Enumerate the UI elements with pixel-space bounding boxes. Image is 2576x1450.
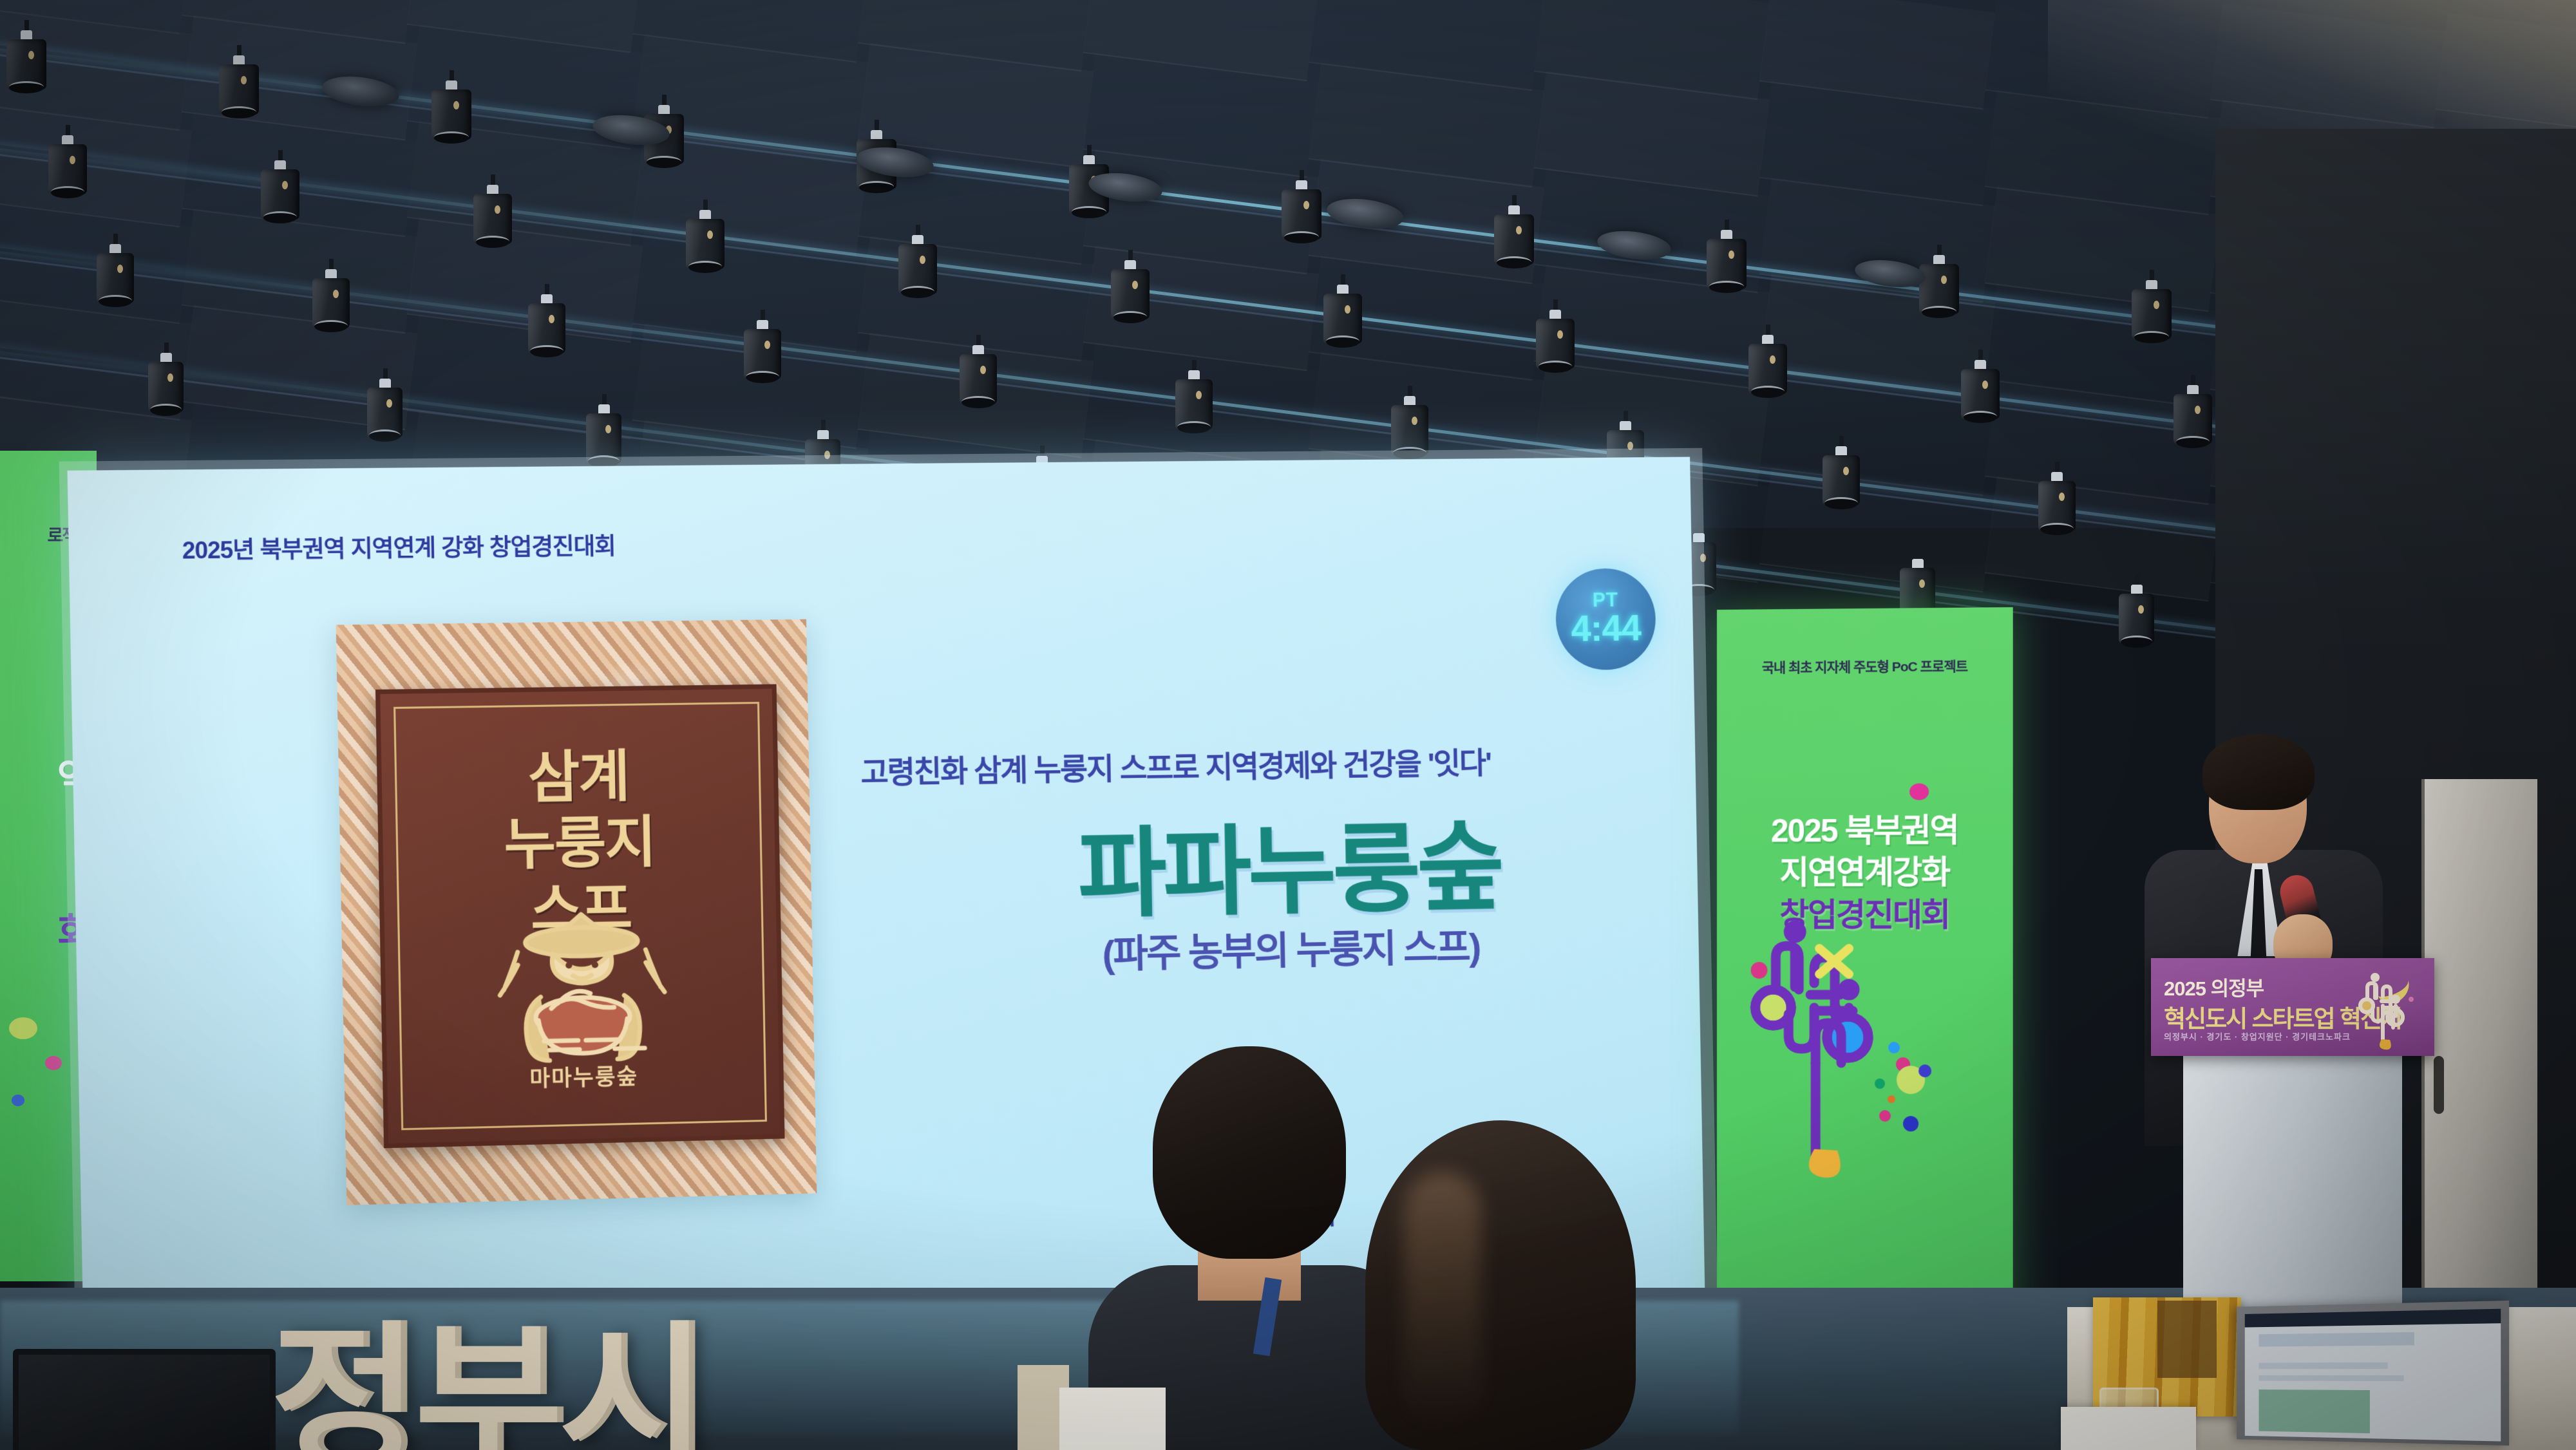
spotlight-body: [219, 64, 259, 115]
slide-subtitle: 고령친화 삼계 누룽지 스프로 지역경제와 건강을 '잇다': [860, 735, 1709, 792]
spotlight-glint: [2138, 605, 2144, 614]
front-paper-sheet[interactable]: [1059, 1388, 1166, 1450]
spotlight-glint: [70, 156, 75, 164]
spotlight-body: [6, 39, 46, 89]
slide-header: 2025년 북부권역 지역연계 강화 창업경진대회: [182, 527, 616, 565]
laptop-screen[interactable]: [2245, 1309, 2501, 1442]
spotlight-body: [1282, 189, 1321, 240]
spotlight-lens: [688, 261, 723, 273]
spotlight-lens: [1709, 281, 1745, 293]
ceiling-spotlight: [48, 125, 87, 220]
spotlight-body: [97, 253, 134, 303]
spotlight-lens: [476, 236, 510, 248]
spotlight-body: [1323, 294, 1362, 344]
spotlight-body: [473, 194, 512, 244]
confetti-dot: [9, 1017, 37, 1039]
spotlight-lens: [1824, 497, 1857, 509]
spotlight-body: [367, 388, 402, 438]
banner-line-2: 지연연계강화: [1717, 846, 2013, 893]
laptop-doc-block: [2259, 1333, 2414, 1347]
spotlight-glint: [1919, 579, 1925, 588]
spotlight-lens: [263, 211, 298, 223]
podium-sign-line-1: 2025 의정부: [2164, 972, 2264, 1001]
spotlight-glint: [333, 290, 339, 298]
audience-member-2-hair-highlight: [1404, 1172, 1481, 1429]
ceiling-spotlight: [686, 200, 724, 295]
spotlight-lens: [434, 131, 469, 144]
spotlight-lens: [314, 320, 347, 332]
spotlight-body: [1748, 344, 1787, 394]
spotlight-body: [528, 303, 565, 353]
conference-room-scene: 로젝트 역 회 2025년 북부권역 지역연계 강화 창업경진대회 삼계 누룽지…: [0, 0, 2576, 1450]
spotlight-glint: [241, 76, 247, 84]
spotlight-body: [686, 219, 724, 269]
banner-kicker: 국내 최초 지자체 주도형 PoC 프로젝트: [1717, 655, 2013, 677]
spotlight-glint: [1412, 417, 1417, 425]
confetti-dot: [1909, 784, 1929, 800]
product-photo: 삼계 누룽지 스프: [336, 619, 817, 1205]
ceiling-spotlight: [219, 45, 259, 142]
ceiling-spotlight: [2038, 462, 2076, 553]
podium-sign: 2025 의정부 혁신도시 스타트업 혁신지 의정부시 · 경기도 · 창업지원…: [2151, 958, 2434, 1056]
presenter-hair: [2202, 734, 2315, 810]
confetti-dot: [12, 1095, 24, 1106]
door-handle[interactable]: [2434, 1056, 2444, 1114]
ceiling-spotlight: [1823, 436, 1860, 527]
spotlight-glint: [1770, 355, 1776, 364]
spotlight-lens: [1177, 421, 1210, 433]
spotlight-body: [898, 244, 937, 294]
spotlight-body: [586, 413, 621, 464]
spotlight-body: [1536, 319, 1575, 369]
green-event-banner: 국내 최초 지자체 주도형 PoC 프로젝트 2025 북부권역 지연연계강화 …: [1717, 607, 2013, 1318]
ceiling-spotlight: [1919, 245, 1959, 341]
ceiling-spotlight: [1175, 360, 1213, 451]
spotlight-lens: [1284, 231, 1320, 243]
ceiling-spotlight: [1111, 250, 1150, 345]
ceiling-spotlight: [1961, 350, 2000, 445]
spotlight-glint: [1982, 381, 1988, 389]
spotlight-lens: [647, 156, 682, 168]
ceiling-spotlight: [367, 368, 402, 456]
spotlight-lens: [2176, 436, 2210, 448]
laptop[interactable]: [2237, 1301, 2509, 1445]
spotlight-body: [2038, 481, 2076, 531]
spotlight-body: [48, 144, 87, 194]
spotlight-lens: [1113, 311, 1148, 323]
spotlight-glint: [453, 101, 459, 109]
spotlight-lens: [901, 286, 935, 298]
confetti-dot: [45, 1056, 62, 1070]
ceiling-spotlight: [473, 174, 512, 270]
spotlight-lens: [1326, 335, 1360, 348]
spotlight-body: [312, 278, 350, 328]
ceiling-spotlight: [2132, 270, 2172, 366]
ceiling-spotlight: [2119, 574, 2154, 662]
audience-member-1-head: [1153, 1046, 1346, 1259]
spotlight-lens: [530, 345, 563, 357]
spotlight-lens: [2134, 331, 2170, 343]
spotlight-body: [261, 169, 299, 220]
ceiling-spotlight: [898, 225, 937, 320]
spotlight-glint: [2195, 406, 2201, 414]
spotlight-lens: [2121, 636, 2152, 648]
spotlight-glint: [980, 366, 986, 374]
spotlight-body: [960, 354, 997, 404]
spotlight-lens: [1497, 256, 1532, 268]
spotlight-lens: [2040, 523, 2073, 535]
ceiling-spotlight: [1494, 195, 1534, 292]
spotlight-glint: [2059, 493, 2065, 501]
spotlight-body: [148, 362, 184, 412]
spotlight-lens: [1072, 206, 1107, 218]
podium-sponsor-logos: 의정부시 · 경기도 · 창업지원단 · 경기테크노파크: [2164, 1030, 2351, 1042]
timer-value: 4:44: [1571, 609, 1641, 648]
paper-stack[interactable]: [2061, 1407, 2196, 1450]
spotlight-lens: [51, 186, 85, 198]
ceiling-spotlight: [97, 234, 134, 325]
spotlight-body: [2119, 594, 2154, 644]
ceiling-spotlight: [1323, 274, 1362, 370]
spotlight-body: [2132, 289, 2172, 339]
spotlight-lens: [369, 429, 400, 442]
ceiling-spotlight: [6, 20, 46, 117]
spotlight-glint: [1516, 226, 1522, 234]
ceiling-spotlight: [960, 335, 997, 426]
ceiling-spotlight: [1536, 299, 1575, 395]
spotlight-lens: [150, 404, 181, 416]
spotlight-body: [1111, 269, 1150, 319]
spotlight-glint: [2154, 301, 2159, 309]
laptop-doc-line: [2259, 1375, 2403, 1381]
spotlight-body: [1961, 369, 2000, 419]
spotlight-glint: [282, 181, 288, 189]
banner-line-1: 2025 북부권역: [1717, 804, 2013, 852]
spotlight-lens: [99, 295, 131, 307]
ceiling-spotlight: [148, 343, 184, 430]
spotlight-lens: [1964, 411, 1998, 423]
ceiling-spotlight: [528, 284, 565, 375]
spotlight-body: [1919, 264, 1959, 314]
innovation-logo: [1743, 911, 1955, 1182]
spotlight-body: [2173, 394, 2212, 444]
spotlight-body: [431, 89, 471, 140]
spotlight-glint: [1303, 201, 1309, 209]
spotlight-body: [1494, 214, 1534, 265]
podium-innovation-logo: [2356, 970, 2430, 1050]
ceiling-spotlight: [1282, 170, 1321, 267]
spotlight-glint: [117, 265, 123, 273]
spotlight-body: [1823, 455, 1860, 505]
spotlight-body: [1391, 405, 1428, 455]
folder-dark-panel: [2157, 1301, 2217, 1378]
spotlight-lens: [1751, 386, 1785, 398]
spotlight-lens: [222, 106, 257, 118]
spotlight-lens: [1922, 306, 1957, 318]
ceiling-spotlight: [1748, 325, 1787, 420]
podium-body: [2183, 1056, 2402, 1320]
spotlight-body: [1175, 379, 1213, 429]
spotlight-glint: [764, 341, 770, 349]
presentation-timer-badge: PT 4:44: [1555, 568, 1657, 670]
front-left-monitor[interactable]: [13, 1349, 276, 1450]
ceiling-spotlight: [312, 259, 350, 350]
spotlight-lens: [859, 181, 895, 193]
spotlight-body: [744, 329, 781, 379]
ceiling-spotlight: [2173, 375, 2212, 470]
spotlight-glint: [1132, 281, 1138, 289]
product-package: 삼계 누룽지 스프: [375, 684, 785, 1149]
ceiling-spotlight: [431, 70, 471, 167]
spotlight-lens: [1539, 361, 1573, 373]
spotlight-lens: [746, 371, 779, 383]
ceiling-spotlight: [261, 150, 299, 245]
spotlight-lens: [9, 81, 44, 93]
timer-label: PT: [1592, 590, 1618, 610]
floor-standing-letters: 정부시: [270, 1333, 703, 1450]
laptop-green-panel: [2259, 1389, 2370, 1433]
spotlight-lens: [961, 396, 994, 408]
spotlight-body: [1707, 239, 1747, 289]
spotlight-glint: [920, 256, 925, 264]
ceiling-spotlight: [1707, 220, 1747, 316]
laptop-doc-line: [2259, 1362, 2388, 1369]
ceiling-spotlight: [744, 310, 781, 401]
